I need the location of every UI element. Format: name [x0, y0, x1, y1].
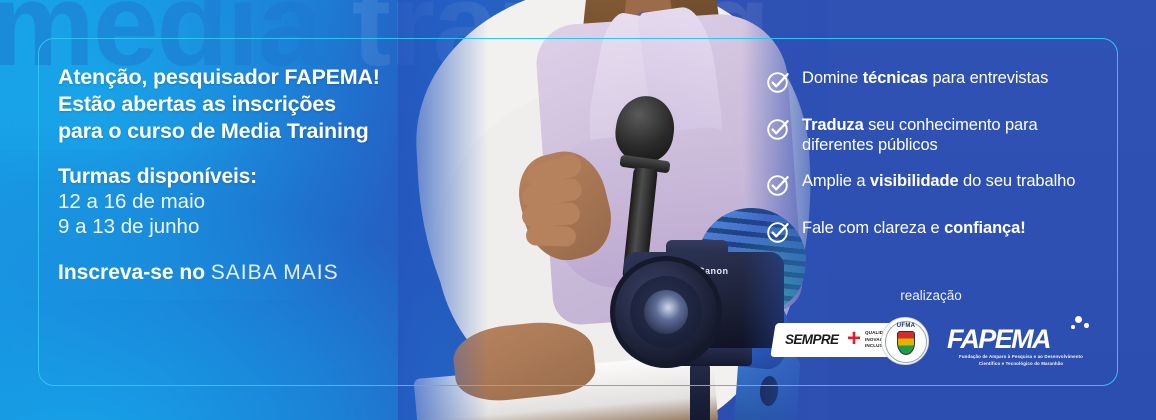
circle-check-icon	[766, 117, 790, 146]
benefit-item: Fale com clareza e confiança!	[766, 218, 1106, 249]
fapema-dot-icon	[1084, 323, 1089, 328]
camera-lens-glass	[644, 290, 688, 334]
fapema-wordmark: FAPEMA	[947, 326, 1050, 353]
benefit-text-bold: técnicas	[863, 69, 928, 87]
benefit-text-bold: visibilidade	[870, 172, 959, 190]
benefit-text-pre: Domine	[802, 69, 863, 87]
headline: Atenção, pesquisador FAPEMA! Estão abert…	[58, 64, 458, 145]
sempre-mais-logo: SEMPRE + QUALIDADE INOVAÇÃO INCLUSÃO UFM…	[773, 317, 931, 365]
benefit-text-pre: Amplie a	[802, 172, 870, 190]
circle-check-icon	[766, 220, 790, 249]
sponsor-logos: SEMPRE + QUALIDADE INOVAÇÃO INCLUSÃO UFM…	[766, 310, 1102, 372]
fapema-dot-icon	[1075, 316, 1082, 323]
fapema-logo: FAPEMA Fundação de Amparo à Pesquisa e a…	[945, 314, 1095, 368]
person-finger	[521, 202, 580, 228]
fapema-dot-icon	[1071, 325, 1075, 329]
benefit-text: Fale com clareza e confiança!	[802, 218, 1026, 238]
turmas-label: Turmas disponíveis:	[58, 165, 458, 189]
person-finger	[526, 225, 577, 247]
benefit-text-bold: Traduza	[802, 116, 864, 134]
ufma-seal-logo: UFMA	[881, 317, 929, 365]
circle-check-icon	[766, 70, 790, 99]
ufma-crest-icon	[897, 331, 915, 355]
benefit-text: Traduza seu conhecimento para diferentes…	[802, 115, 1106, 155]
headline-line-2: Estão abertas as inscrições	[58, 91, 458, 118]
benefits-list: Domine técnicas para entrevistas Traduza…	[766, 68, 1106, 249]
realizacao-label: realização	[766, 288, 1096, 303]
benefit-item: Domine técnicas para entrevistas	[766, 68, 1106, 99]
cta-label: Inscreva-se no	[58, 261, 205, 284]
cta-line[interactable]: Inscreva-se no SAIBA MAIS	[58, 261, 458, 285]
tripod-leg	[690, 364, 710, 420]
sempre-logo-wordmark: SEMPRE	[785, 332, 838, 347]
fapema-tagline: Fundação de Amparo à Pesquisa e ao Desen…	[949, 354, 1093, 368]
benefit-text: Domine técnicas para entrevistas	[802, 68, 1048, 88]
benefit-text: Amplie a visibilidade do seu trabalho	[802, 171, 1075, 191]
ufma-acronym: UFMA	[882, 323, 929, 329]
benefit-text-bold: confiança!	[944, 219, 1026, 237]
headline-line-1: Atenção, pesquisador FAPEMA!	[58, 64, 458, 91]
cta-link-saiba-mais[interactable]: SAIBA MAIS	[211, 261, 339, 284]
turma-date-1: 12 a 16 de maio	[58, 189, 458, 214]
hero-photo: Canon	[398, 0, 828, 420]
benefit-text-post: para entrevistas	[928, 69, 1048, 87]
circle-check-icon	[766, 173, 790, 202]
benefit-item: Traduza seu conhecimento para diferentes…	[766, 115, 1106, 155]
benefit-text-pre: Fale com clareza e	[802, 219, 944, 237]
benefit-text-post: do seu trabalho	[959, 172, 1076, 190]
turma-date-2: 9 a 13 de junho	[58, 214, 458, 239]
media-training-banner: media training	[0, 0, 1156, 420]
sempre-logo-plus-icon: +	[847, 327, 861, 351]
headline-line-3: para o curso de Media Training	[58, 118, 458, 145]
benefit-item: Amplie a visibilidade do seu trabalho	[766, 171, 1106, 202]
left-copy-block: Atenção, pesquisador FAPEMA! Estão abert…	[58, 64, 458, 285]
